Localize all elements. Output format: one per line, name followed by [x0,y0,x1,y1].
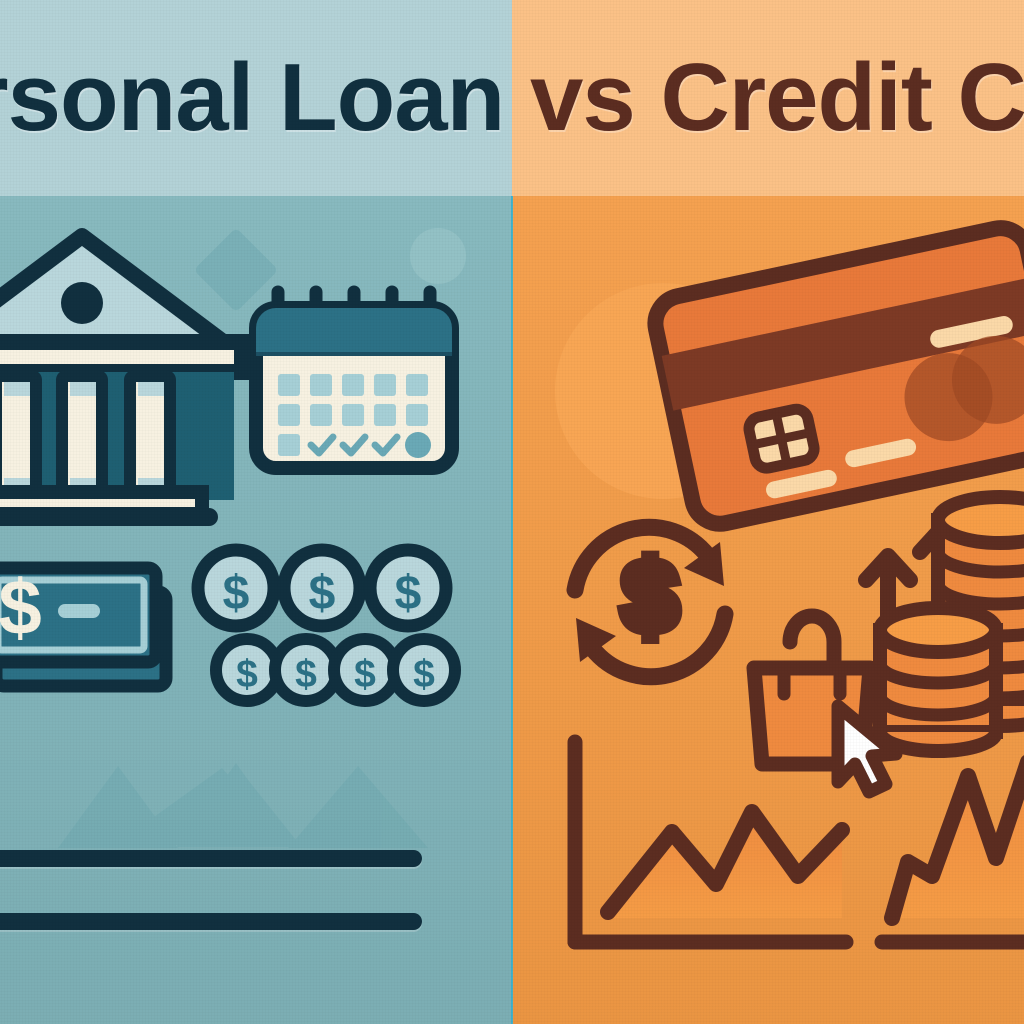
page-title: Personal Loan vs Credit Card [0,0,1024,196]
comparison-infographic: $ $ $ $ [0,0,1024,1024]
chart-left [608,812,842,918]
svg-text:$: $ [623,541,678,651]
coin-stack-icon [880,497,1024,751]
card-chip-icon [747,407,817,470]
chart-right [892,762,1024,918]
credit-card-icon [650,223,1024,529]
title-right-segment: vs Credit Card [530,44,1024,151]
refresh-dollar-icon: $ [575,527,725,676]
title-left-segment: Personal Loan [0,44,530,151]
